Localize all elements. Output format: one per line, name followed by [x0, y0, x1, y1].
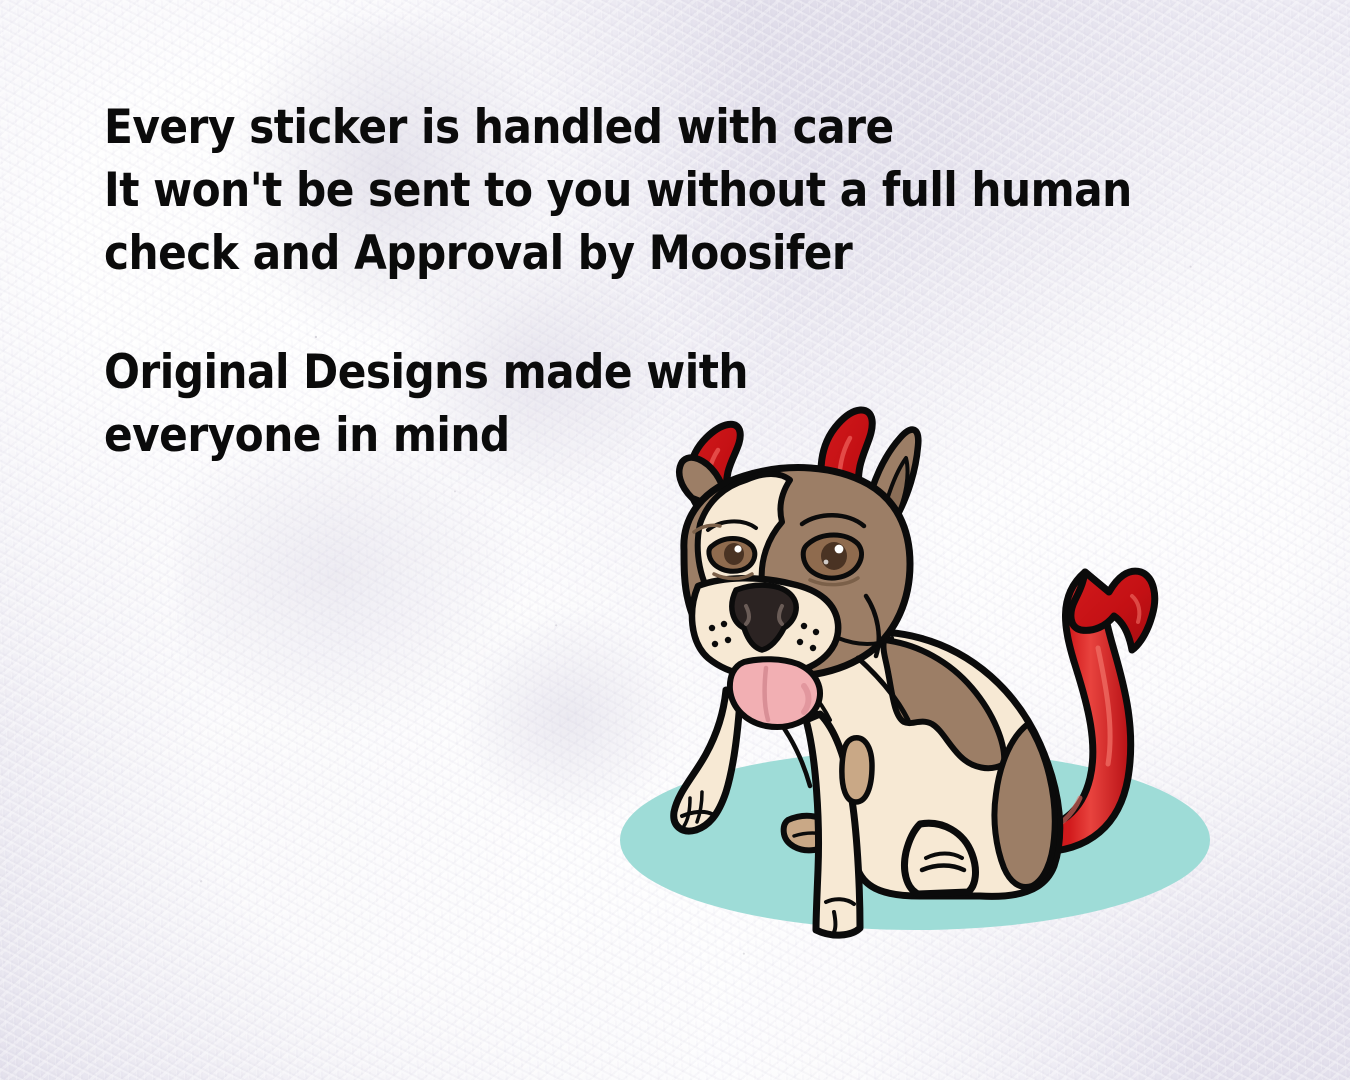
- devil-dog-illustration: [620, 400, 1260, 1000]
- promo-paragraph-primary: Every sticker is handled with care It wo…: [104, 96, 1204, 285]
- body-nub: [842, 738, 872, 802]
- promo-line-1: Every sticker is handled with care: [104, 96, 1094, 159]
- devil-dog-svg: [620, 400, 1260, 1000]
- promo-line-3: check and Approval by Moosifer: [104, 222, 1094, 285]
- promo-line-2: It won't be sent to you without a full h…: [104, 159, 1094, 222]
- promo-line-4: Original Designs made with: [104, 341, 1094, 404]
- promo-canvas: Every sticker is handled with care It wo…: [0, 0, 1350, 1080]
